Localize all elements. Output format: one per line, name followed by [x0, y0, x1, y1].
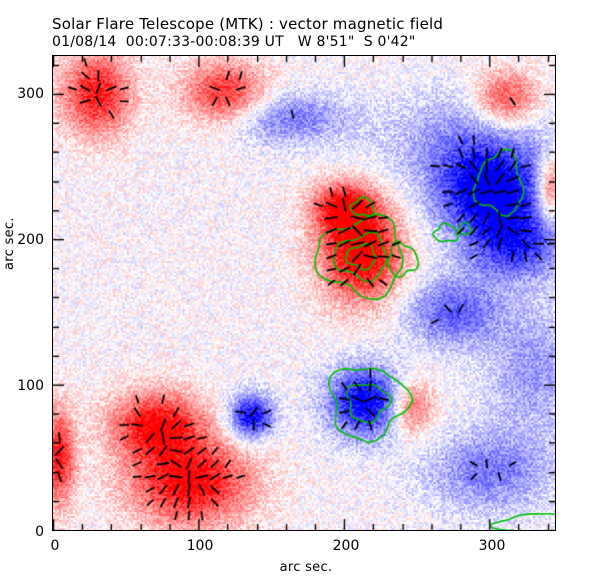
- y-tick-label-0: 0: [2, 524, 44, 540]
- magnetogram-canvas: [53, 56, 555, 530]
- x-tick-label-200: 200: [329, 538, 363, 554]
- x-tick-label-100: 100: [183, 538, 217, 554]
- y-tick-label-300: 300: [2, 86, 44, 102]
- x-tick-label-0: 0: [45, 538, 65, 554]
- page-title: Solar Flare Telescope (MTK) : vector mag…: [52, 16, 592, 33]
- x-tick-label-300: 300: [475, 538, 509, 554]
- x-axis-label: arc sec.: [0, 560, 612, 575]
- magnetogram-plot-area: [52, 55, 556, 531]
- chart-title-block: Solar Flare Telescope (MTK) : vector mag…: [52, 16, 592, 50]
- y-tick-label-100: 100: [2, 378, 44, 394]
- y-axis-label: arc sec.: [2, 217, 17, 270]
- observation-subtitle: 01/08/14 00:07:33-00:08:39 UT W 8'51" S …: [52, 34, 592, 50]
